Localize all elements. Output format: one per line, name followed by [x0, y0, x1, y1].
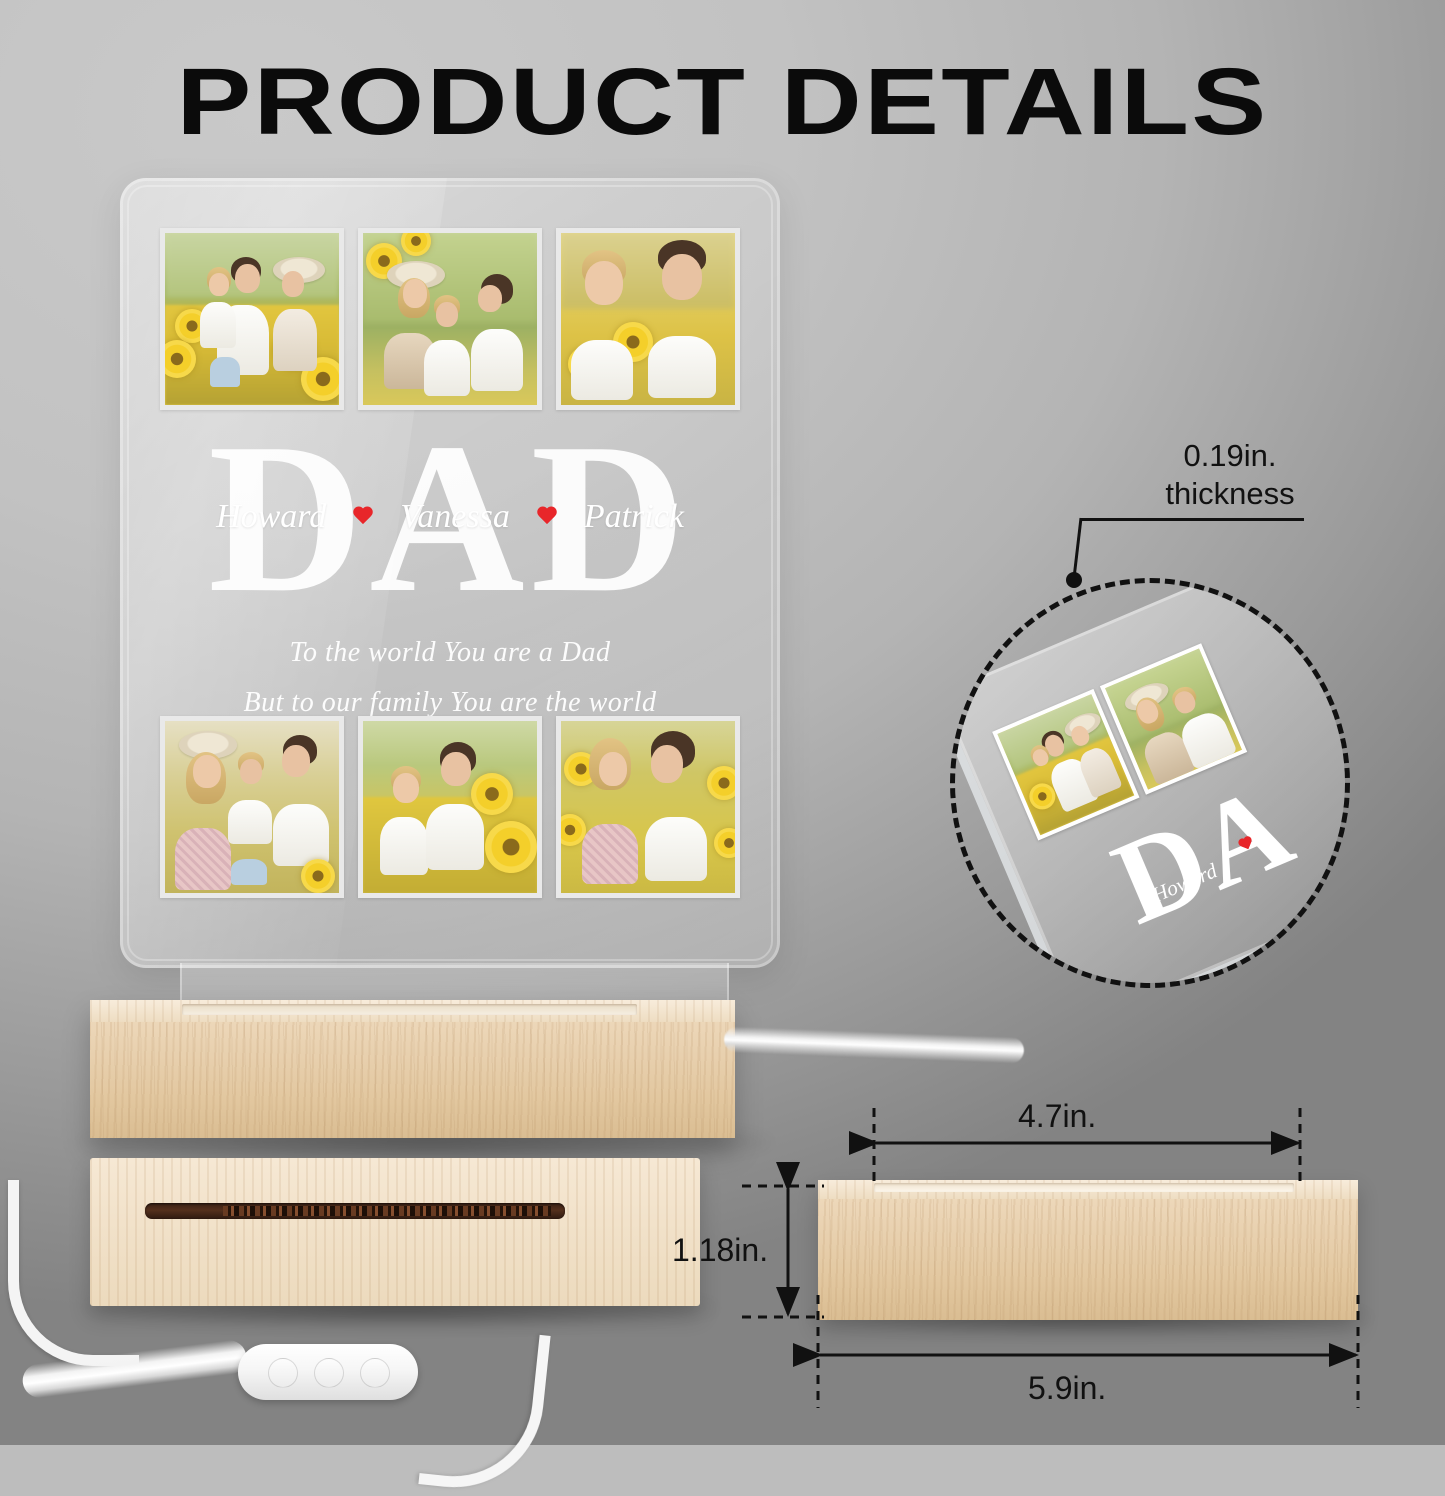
controller-button-3[interactable]	[360, 1358, 390, 1388]
led-chips	[223, 1206, 551, 1216]
wooden-base-front	[90, 1000, 735, 1138]
magnified-plaque-edge: DA Howard	[950, 578, 1350, 988]
dimbase-slot	[874, 1183, 1294, 1192]
dimension-base-width: 5.9in.	[1028, 1370, 1106, 1407]
controller-button-2[interactable]	[314, 1358, 344, 1388]
thickness-callout-label: 0.19in. thickness	[1105, 437, 1355, 513]
photo-row-top	[160, 228, 740, 410]
acrylic-plaque: DAD Howard Vanessa Patrick To the world …	[120, 178, 780, 968]
usb-cable-tail	[418, 1324, 550, 1496]
led-light-slot	[145, 1203, 565, 1219]
page-title: PRODUCT DETAILS	[0, 48, 1445, 157]
plaque-slot	[182, 1004, 637, 1015]
dimension-top-width: 4.7in.	[1018, 1098, 1096, 1135]
thickness-value: 0.19in.	[1105, 437, 1355, 475]
photo-thumbnail	[358, 716, 542, 898]
name-1: Howard	[216, 498, 326, 536]
heart-icon	[352, 507, 374, 527]
photo-thumbnail	[358, 228, 542, 410]
thickness-magnifier: DA Howard	[940, 568, 1360, 1008]
heart-icon	[536, 507, 558, 527]
dimension-height: 1.18in.	[672, 1232, 768, 1269]
plaque-names: Howard Vanessa Patrick	[120, 498, 780, 536]
name-3: Patrick	[584, 498, 684, 536]
magnifier-circle: DA Howard	[950, 578, 1350, 988]
photo-thumbnail	[160, 228, 344, 410]
plaque-quote: To the world You are a Dad But to our fa…	[120, 628, 780, 728]
photo-thumbnail	[556, 716, 740, 898]
callout-underline	[1081, 518, 1304, 521]
quote-line-1: To the world You are a Dad	[120, 628, 780, 678]
plaque-legs	[180, 963, 729, 1003]
product-details-page: PRODUCT DETAILS	[0, 0, 1445, 1445]
photo-thumbnail	[556, 228, 740, 410]
controller-button-1[interactable]	[268, 1358, 298, 1388]
usb-cable-left	[8, 1180, 139, 1366]
wooden-base-top-view	[90, 1158, 700, 1306]
photo-row-bottom	[160, 716, 740, 898]
led-controller[interactable]	[238, 1344, 418, 1400]
wooden-base-dimension-view	[818, 1180, 1358, 1320]
name-2: Vanessa	[400, 498, 510, 536]
usb-cable-right	[724, 1026, 1025, 1063]
photo-thumbnail	[160, 716, 344, 898]
thickness-word: thickness	[1105, 475, 1355, 513]
